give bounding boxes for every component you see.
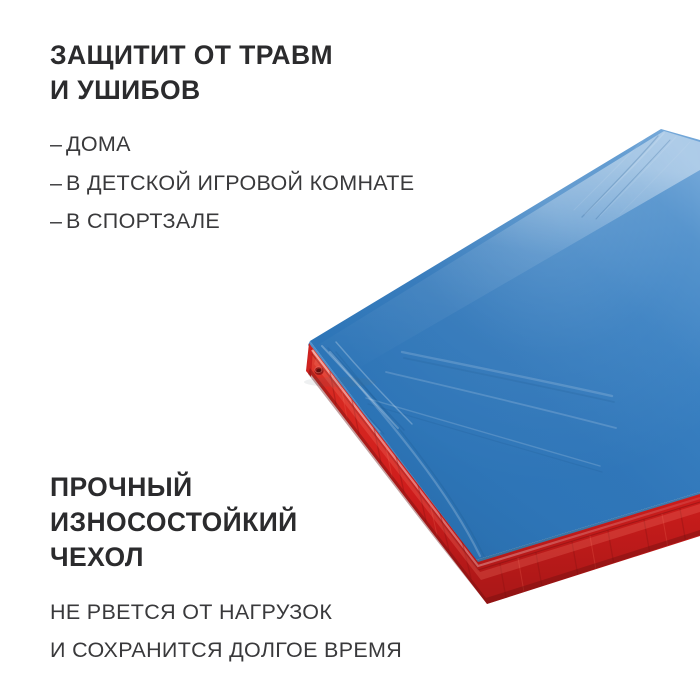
top-bullet-list: – ДОМА – В ДЕТСКОЙ ИГРОВОЙ КОМНАТЕ – В С… xyxy=(50,134,510,233)
bottom-subline: И СОХРАНИТСЯ ДОЛГОЕ ВРЕМЯ xyxy=(50,640,520,662)
bullet-label: В СПОРТЗАЛЕ xyxy=(66,211,220,233)
infographic-canvas: ЗАЩИТИТ ОТ ТРАВМ И УШИБОВ – ДОМА – В ДЕТ… xyxy=(0,0,700,700)
top-headline-line-1: ЗАЩИТИТ ОТ ТРАВМ xyxy=(50,40,333,70)
bullet-label: ДОМА xyxy=(66,134,131,156)
top-headline-line-2: И УШИБОВ xyxy=(50,75,201,105)
bottom-subline: НЕ РВЕТСЯ ОТ НАГРУЗОК xyxy=(50,602,520,624)
bottom-subline-group: НЕ РВЕТСЯ ОТ НАГРУЗОК И СОХРАНИТСЯ ДОЛГО… xyxy=(50,602,520,662)
bottom-headline-line-1: ПРОЧНЫЙ xyxy=(50,472,193,502)
list-item: – В СПОРТЗАЛЕ xyxy=(50,211,510,233)
top-copy-block: ЗАЩИТИТ ОТ ТРАВМ И УШИБОВ – ДОМА – В ДЕТ… xyxy=(50,38,510,233)
bottom-headline-line-3: ЧЕХОЛ xyxy=(50,542,144,572)
list-item: – ДОМА xyxy=(50,134,510,156)
bottom-copy-block: ПРОЧНЫЙ ИЗНОСОСТОЙКИЙ ЧЕХОЛ НЕ РВЕТСЯ ОТ… xyxy=(50,470,520,662)
bullet-dash-icon: – xyxy=(50,134,66,156)
bullet-dash-icon: – xyxy=(50,173,66,195)
top-headline: ЗАЩИТИТ ОТ ТРАВМ И УШИБОВ xyxy=(50,38,510,108)
bullet-dash-icon: – xyxy=(50,211,66,233)
bottom-headline-line-2: ИЗНОСОСТОЙКИЙ xyxy=(50,507,298,537)
bullet-label: В ДЕТСКОЙ ИГРОВОЙ КОМНАТЕ xyxy=(66,173,414,195)
list-item: – В ДЕТСКОЙ ИГРОВОЙ КОМНАТЕ xyxy=(50,173,510,195)
bottom-headline: ПРОЧНЫЙ ИЗНОСОСТОЙКИЙ ЧЕХОЛ xyxy=(50,470,520,576)
